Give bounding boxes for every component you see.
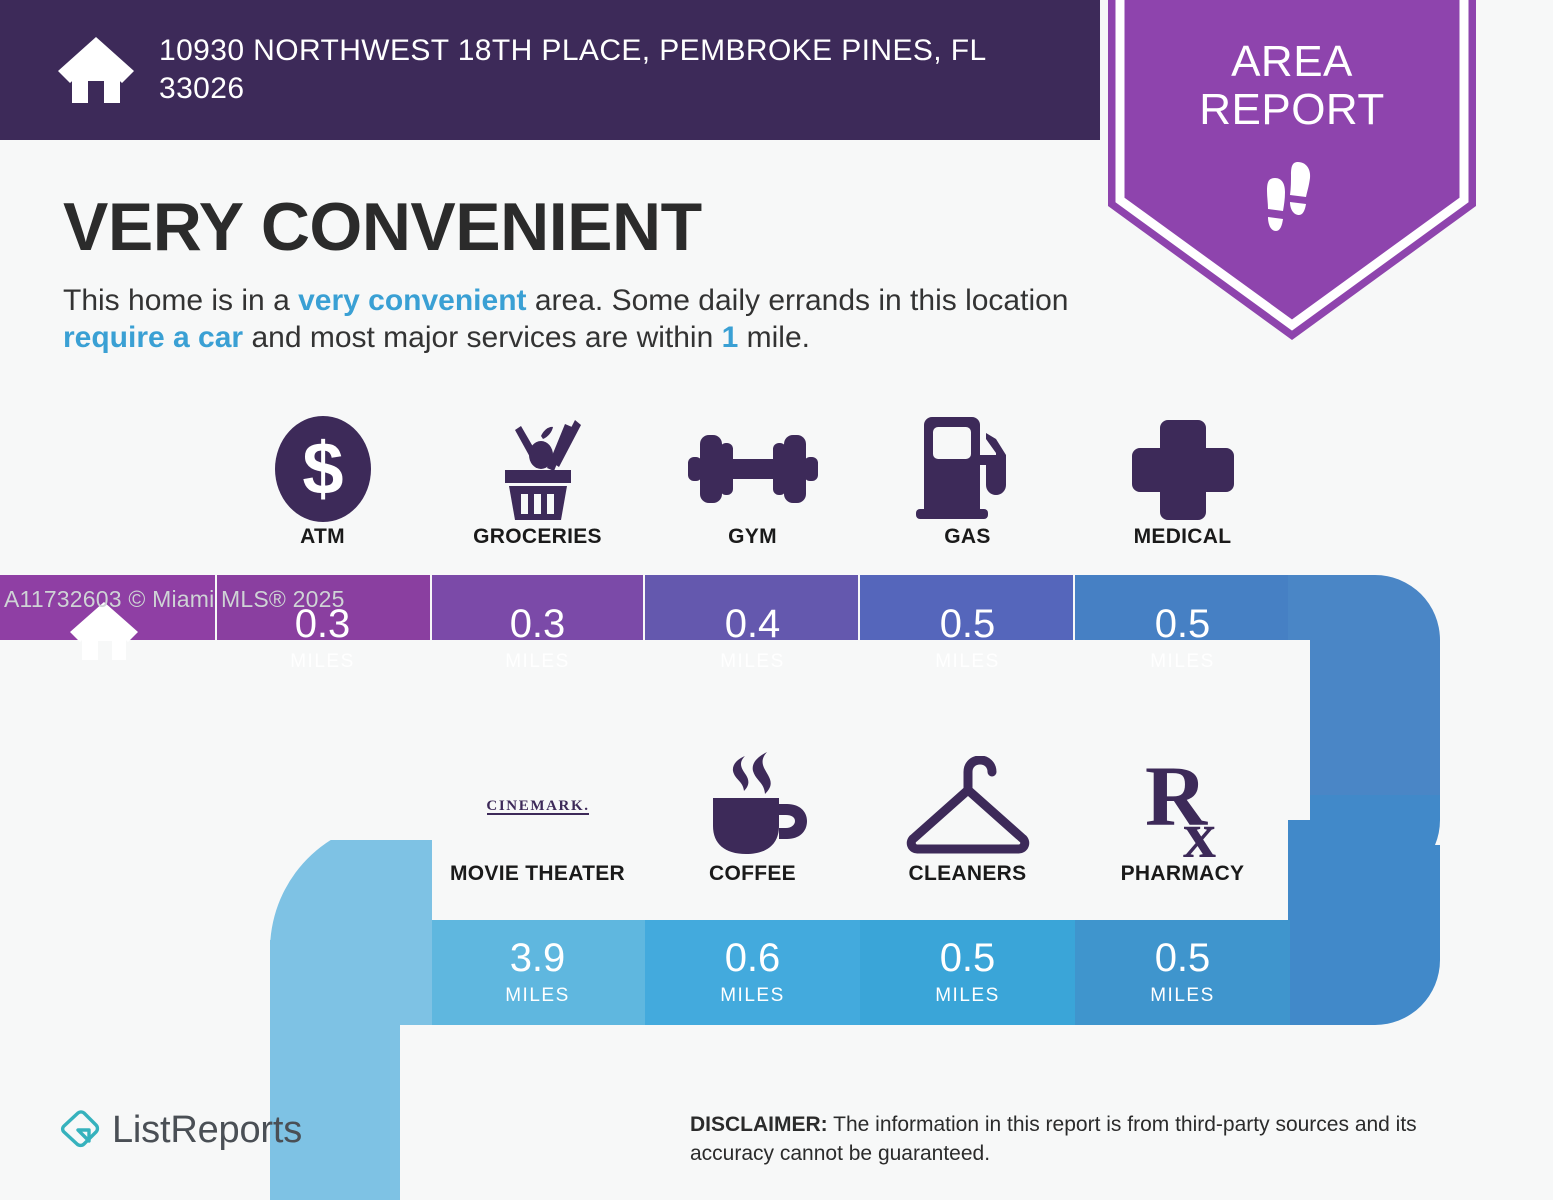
amenity-medical: MEDICAL: [1075, 415, 1290, 565]
amenity-label: ATM: [215, 525, 430, 549]
listreports-logo: ListReports: [58, 1108, 302, 1152]
distance-unit: MILES: [860, 651, 1075, 673]
amenity-gas: GAS: [860, 415, 1075, 565]
header-bar: 10930 NORTHWEST 18TH PLACE, PEMBROKE PIN…: [0, 0, 1100, 140]
distance-value: 0.3: [430, 604, 645, 644]
distance-medical: 0.5 MILES: [1075, 604, 1290, 673]
distance-unit: MILES: [645, 985, 860, 1007]
amenity-icon-row-1: $ ATM: [0, 415, 1553, 565]
distance-unit: MILES: [1075, 651, 1290, 673]
summary-highlight-3: 1: [722, 321, 739, 354]
amenity-label: GYM: [645, 525, 860, 549]
svg-text:$: $: [302, 427, 343, 510]
distance-value: 0.5: [1075, 938, 1290, 978]
home-icon: [55, 35, 137, 105]
badge-title: AREA REPORT: [1108, 38, 1476, 133]
amenity-groceries: GROCERIES: [430, 415, 645, 565]
listreports-house-icon: [58, 1108, 102, 1152]
dollar-circle-icon: $: [215, 415, 430, 523]
summary-part-1: This home is in a: [63, 284, 298, 317]
distance-value: 0.5: [860, 938, 1075, 978]
property-address: 10930 NORTHWEST 18TH PLACE, PEMBROKE PIN…: [159, 32, 1039, 109]
distance-pharmacy: 0.5 MILES: [1075, 938, 1290, 1007]
page-title: VERY CONVENIENT: [63, 188, 702, 266]
mls-watermark: A11732603 © Miami MLS® 2025: [4, 586, 345, 613]
distance-value: 3.9: [430, 938, 645, 978]
distance-unit: MILES: [860, 985, 1075, 1007]
summary-part-3: and most major services are within: [243, 321, 722, 354]
footprints-icon: [1259, 160, 1329, 232]
distance-unit: MILES: [430, 651, 645, 673]
summary-part-2: area. Some daily errands in this locatio…: [527, 284, 1069, 317]
distance-groceries: 0.3 MILES: [430, 604, 645, 673]
badge-line-2: REPORT: [1108, 86, 1476, 134]
summary-part-4: mile.: [738, 321, 810, 354]
amenity-gym: GYM: [645, 415, 860, 565]
summary-highlight-1: very convenient: [298, 284, 526, 317]
grocery-basket-icon: [430, 415, 645, 523]
disclaimer-label: DISCLAIMER:: [690, 1113, 828, 1136]
summary-highlight-2: require a car: [63, 321, 243, 354]
dumbbell-icon: [645, 415, 860, 523]
listreports-wordmark: ListReports: [112, 1109, 302, 1152]
distance-unit: MILES: [645, 651, 860, 673]
distance-movie-theater: 3.9 MILES: [430, 938, 645, 1007]
amenity-label: MEDICAL: [1075, 525, 1290, 549]
amenity-label: GROCERIES: [430, 525, 645, 549]
distance-unit: MILES: [1075, 985, 1290, 1007]
distance-value: 0.4: [645, 604, 860, 644]
distance-gym: 0.4 MILES: [645, 604, 860, 673]
distance-value: 0.5: [1075, 604, 1290, 644]
summary-text: This home is in a very convenient area. …: [63, 283, 1103, 357]
disclaimer: DISCLAIMER: The information in this repo…: [690, 1110, 1500, 1169]
amenity-atm: $ ATM: [215, 415, 430, 565]
distance-gas: 0.5 MILES: [860, 604, 1075, 673]
distance-value: 0.5: [860, 604, 1075, 644]
distance-unit: MILES: [215, 651, 430, 673]
distance-cleaners: 0.5 MILES: [860, 938, 1075, 1007]
badge-line-1: AREA: [1108, 38, 1476, 86]
gas-pump-icon: [860, 415, 1075, 523]
area-report-badge: AREA REPORT: [1108, 0, 1476, 340]
medical-cross-icon: [1075, 415, 1290, 523]
distance-value: 0.6: [645, 938, 860, 978]
amenity-label: GAS: [860, 525, 1075, 549]
area-report-page: 10930 NORTHWEST 18TH PLACE, PEMBROKE PIN…: [0, 0, 1553, 1200]
distance-unit: MILES: [430, 985, 645, 1007]
distance-values: 0.3 MILES 0.3 MILES 0.4 MILES 0.5 MILES …: [0, 560, 1553, 1200]
distance-atm: 0.3 MILES: [215, 604, 430, 673]
distance-coffee: 0.6 MILES: [645, 938, 860, 1007]
